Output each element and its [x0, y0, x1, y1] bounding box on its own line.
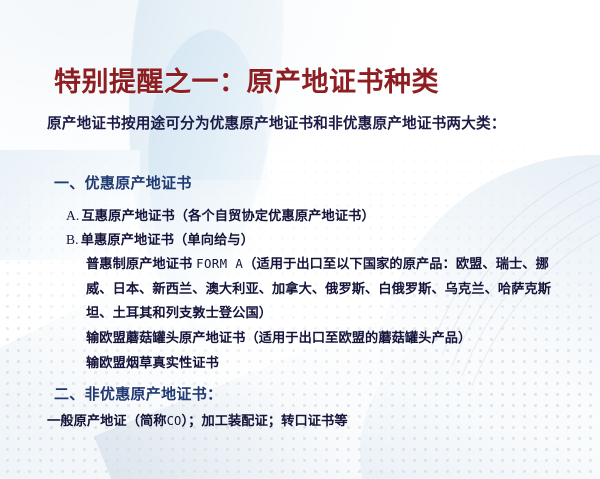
- co-abbreviation: CO: [167, 414, 182, 428]
- extra-line-tobacco-certificate: 输欧盟烟草真实性证书: [86, 352, 219, 371]
- section-heading-preferential: 一、优惠原产地证书: [54, 172, 192, 193]
- list-item-marker: B.: [66, 232, 79, 247]
- form-a-code: FORM A: [196, 256, 243, 271]
- list-item: B.单惠原产地证书（单向给与）: [66, 229, 254, 248]
- form-a-paragraph-prefix: 普惠制原产地证书: [86, 256, 196, 271]
- non-preferential-suffix: ）；加工装配证；转口证书等: [181, 413, 347, 428]
- list-item-marker: A.: [66, 208, 79, 223]
- list-item-label: 单惠原产地证书（单向给与）: [81, 232, 254, 247]
- slide-title: 特别提醒之一：原产地证书种类: [54, 60, 439, 99]
- list-item: A.互惠原产地证书（各个自贸协定优惠原产地证书）: [66, 205, 375, 224]
- non-preferential-prefix: 一般原产地证（简称: [47, 413, 167, 428]
- presentation-slide: 特别提醒之一：原产地证书种类 原产地证书按用途可分为优惠原产地证书和非优惠原产地…: [0, 0, 600, 479]
- list-item-label: 互惠原产地证书（各个自贸协定优惠原产地证书）: [81, 208, 374, 223]
- form-a-paragraph: 普惠制原产地证书 FORM A（适用于出口至以下国家的原产品：欧盟、瑞士、挪威、…: [86, 252, 558, 326]
- slide-subtitle: 原产地证书按用途可分为优惠原产地证书和非优惠原产地证书两大类：: [47, 110, 567, 138]
- slide-content: 特别提醒之一：原产地证书种类 原产地证书按用途可分为优惠原产地证书和非优惠原产地…: [0, 0, 600, 479]
- non-preferential-types-line: 一般原产地证（简称CO）；加工装配证；转口证书等: [47, 410, 348, 429]
- extra-line-mushroom-certificate: 输欧盟蘑菇罐头原产地证书（适用于出口至欧盟的蘑菇罐头产品）: [86, 327, 471, 346]
- section-heading-non-preferential: 二、非优惠原产地证书：: [54, 383, 222, 404]
